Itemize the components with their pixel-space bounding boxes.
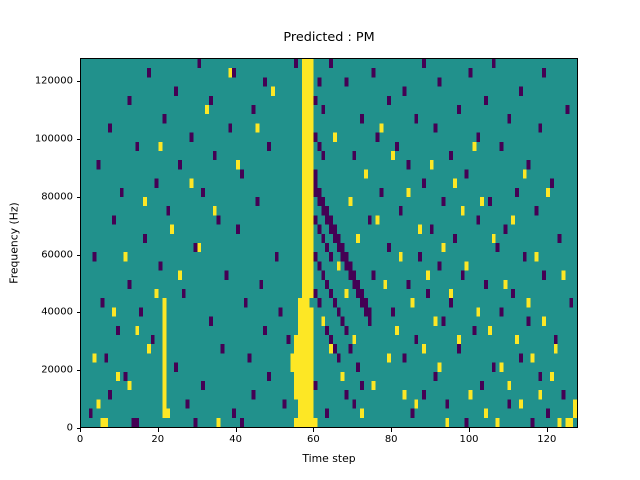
x-tick-mark <box>313 428 314 432</box>
x-tick-label: 20 <box>151 434 164 445</box>
x-tick-label: 100 <box>459 434 478 445</box>
y-tick-label: 0 <box>26 423 73 434</box>
x-tick-mark <box>469 428 470 432</box>
y-tick-label: 60000 <box>26 249 73 260</box>
x-tick-label: 120 <box>537 434 556 445</box>
y-tick-label: 20000 <box>26 365 73 376</box>
heatmap-plot-area <box>80 58 578 428</box>
y-axis-label-text: Frequency (Hz) <box>8 202 21 283</box>
y-tick-label: 120000 <box>20 76 73 87</box>
x-tick-label: 60 <box>307 434 320 445</box>
y-tick-mark <box>77 255 81 256</box>
y-tick-label: 80000 <box>26 191 73 202</box>
x-tick-mark <box>391 428 392 432</box>
y-tick-mark <box>77 312 81 313</box>
x-tick-label: 80 <box>385 434 398 445</box>
x-tick-label: 40 <box>229 434 242 445</box>
y-tick-mark <box>77 81 81 82</box>
y-tick-mark <box>77 197 81 198</box>
x-tick-mark <box>547 428 548 432</box>
y-tick-label: 100000 <box>20 134 73 145</box>
x-axis-label: Time step <box>80 452 578 465</box>
heatmap-image <box>81 59 577 427</box>
x-tick-mark <box>80 428 81 432</box>
x-tick-label: 0 <box>77 434 83 445</box>
chart-title: Predicted : PM <box>80 30 578 45</box>
matplotlib-figure: Predicted : PM 0 20 40 60 80 100 120 0 2… <box>0 0 640 480</box>
y-tick-label: 40000 <box>26 307 73 318</box>
y-tick-mark <box>77 428 81 429</box>
x-tick-mark <box>236 428 237 432</box>
y-tick-mark <box>77 139 81 140</box>
y-tick-mark <box>77 370 81 371</box>
x-tick-mark <box>158 428 159 432</box>
